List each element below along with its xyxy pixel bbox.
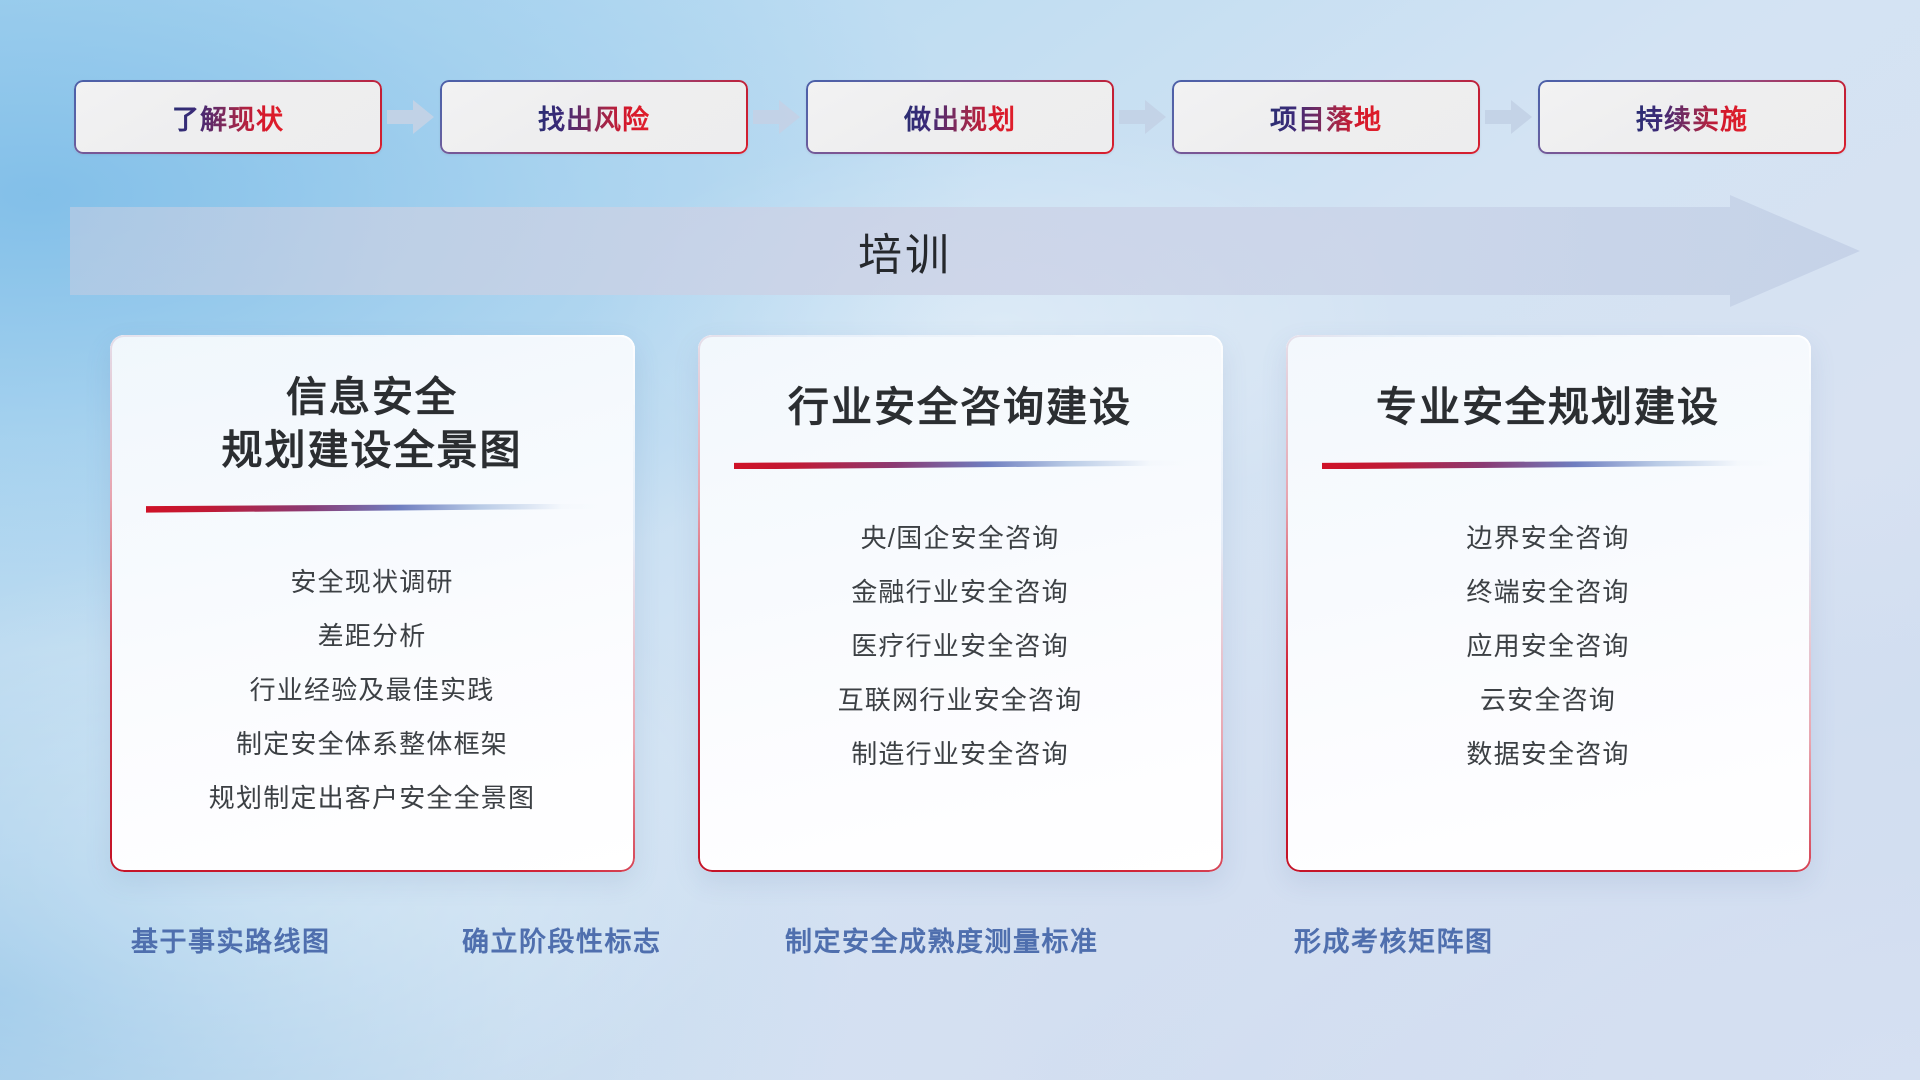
card-industry-security-consulting[interactable]: 行业安全咨询建设 央/国企安全咨询 金融行业安全咨询 医疗行业安全咨询 互联网行… — [698, 335, 1223, 872]
list-item: 金融行业安全咨询 — [851, 565, 1069, 619]
arrow-right-icon — [748, 96, 806, 138]
list-item: 差距分析 — [318, 609, 427, 663]
step-label-2: 做出规划 — [904, 98, 1016, 137]
step-box-3[interactable]: 项目落地 — [1172, 80, 1480, 154]
card-title-line1: 行业安全咨询建设 — [788, 381, 1132, 434]
slide-canvas: 了解现状 找出风险 做出规划 项目落地 持续实施 — [0, 0, 1920, 1080]
list-item: 终端安全咨询 — [1466, 565, 1629, 619]
card-title-line1: 信息安全 — [222, 371, 523, 424]
list-item: 央/国企安全咨询 — [861, 511, 1060, 565]
card-professional-security-planning[interactable]: 专业安全规划建设 边界安全咨询 终端安全咨询 应用安全咨询 云安全咨询 数据安全… — [1286, 335, 1811, 872]
list-item: 边界安全咨询 — [1466, 511, 1629, 565]
banner-title: 培训 — [70, 195, 1740, 307]
card-information-security-blueprint[interactable]: 信息安全 规划建设全景图 安全现状调研 差距分析 行业经验及最佳实践 制定安全体… — [110, 335, 635, 872]
list-item: 互联网行业安全咨询 — [838, 673, 1083, 727]
list-item: 安全现状调研 — [290, 555, 453, 609]
list-item: 行业经验及最佳实践 — [250, 663, 495, 717]
step-box-0[interactable]: 了解现状 — [74, 80, 382, 154]
card-divider — [1322, 460, 1774, 469]
step-label-1: 找出风险 — [538, 98, 650, 137]
card-divider — [734, 460, 1186, 469]
step-box-1[interactable]: 找出风险 — [440, 80, 748, 154]
card-title-line1: 专业安全规划建设 — [1376, 381, 1720, 434]
card-title: 信息安全 规划建设全景图 — [222, 371, 523, 478]
list-item: 制造行业安全咨询 — [851, 727, 1069, 781]
card-row: 信息安全 规划建设全景图 安全现状调研 差距分析 行业经验及最佳实践 制定安全体… — [0, 335, 1920, 872]
card-divider — [146, 504, 598, 513]
card-title: 专业安全规划建设 — [1376, 381, 1720, 434]
card-title-line2: 规划建设全景图 — [222, 424, 523, 477]
list-item: 云安全咨询 — [1480, 673, 1616, 727]
training-banner: 培训 — [70, 195, 1860, 307]
step-label-0: 了解现状 — [172, 98, 284, 137]
arrow-right-icon — [382, 96, 440, 138]
card-title: 行业安全咨询建设 — [788, 381, 1132, 434]
step-box-2[interactable]: 做出规划 — [806, 80, 1114, 154]
footer-label-1: 确立阶段性标志 — [462, 920, 662, 959]
list-item: 数据安全咨询 — [1466, 727, 1629, 781]
list-item: 规划制定出客户安全全景图 — [209, 771, 535, 825]
step-label-4: 持续实施 — [1636, 98, 1748, 137]
arrow-right-icon — [1480, 96, 1538, 138]
list-item: 制定安全体系整体框架 — [236, 717, 508, 771]
step-label-3: 项目落地 — [1270, 98, 1382, 137]
footer-label-0: 基于事实路线图 — [131, 920, 331, 959]
step-box-4[interactable]: 持续实施 — [1538, 80, 1846, 154]
arrow-right-icon — [1114, 96, 1172, 138]
card-item-list: 安全现状调研 差距分析 行业经验及最佳实践 制定安全体系整体框架 规划制定出客户… — [136, 555, 609, 825]
card-item-list: 边界安全咨询 终端安全咨询 应用安全咨询 云安全咨询 数据安全咨询 — [1312, 511, 1785, 781]
footer-label-3: 形成考核矩阵图 — [1294, 920, 1494, 959]
footer-label-2: 制定安全成熟度测量标准 — [785, 920, 1099, 959]
list-item: 医疗行业安全咨询 — [851, 619, 1069, 673]
process-step-row: 了解现状 找出风险 做出规划 项目落地 持续实施 — [0, 80, 1920, 154]
footer-label-row: 基于事实路线图 确立阶段性标志 制定安全成熟度测量标准 形成考核矩阵图 — [0, 920, 1920, 976]
list-item: 应用安全咨询 — [1466, 619, 1629, 673]
card-item-list: 央/国企安全咨询 金融行业安全咨询 医疗行业安全咨询 互联网行业安全咨询 制造行… — [724, 511, 1197, 781]
